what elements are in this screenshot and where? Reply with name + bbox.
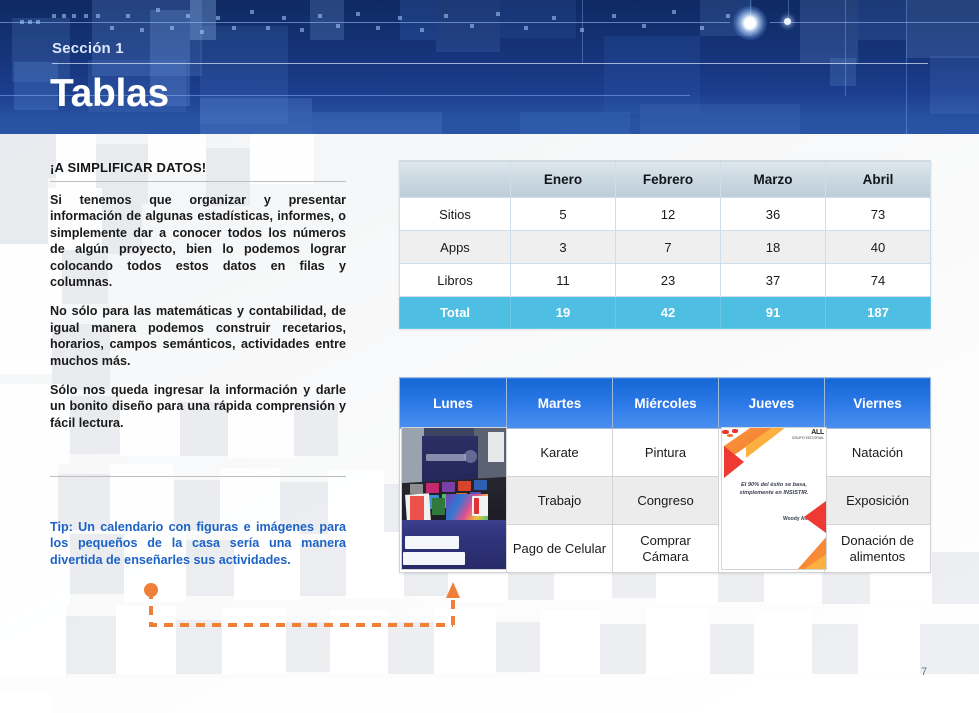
table-week-header-miercoles: Miércoles (613, 378, 719, 429)
table-row: Libros 11 23 37 74 (400, 264, 931, 297)
table-months-header-abril: Abril (826, 161, 931, 198)
cell-apps-marzo: 18 (721, 231, 826, 264)
table-months: Enero Febrero Marzo Abril Sitios 5 12 36… (399, 160, 931, 329)
body-paragraph-3: Sólo nos queda ingresar la información y… (50, 382, 346, 431)
cell-martes-2: Trabajo (507, 477, 613, 525)
cell-miercoles-3: Comprar Cámara (613, 525, 719, 573)
table-months-header-enero: Enero (511, 161, 616, 198)
quote-text: El 90% del éxito se basa, simplemente en… (728, 481, 820, 497)
cell-miercoles-1: Pintura (613, 429, 719, 477)
cell-libros-enero: 11 (511, 264, 616, 297)
cell-viernes-2: Exposición (825, 477, 931, 525)
table-total-row: Total 19 42 91 187 (400, 297, 931, 329)
row-label-apps: Apps (400, 231, 511, 264)
section-label: Sección 1 (52, 40, 124, 57)
page-title: Tablas (50, 72, 169, 116)
table-week-header-viernes: Viernes (825, 378, 931, 429)
cell-miercoles-2: Congreso (613, 477, 719, 525)
cell-total-febrero: 42 (616, 297, 721, 329)
row-label-libros: Libros (400, 264, 511, 297)
lead-heading: ¡A SIMPLIFICAR DATOS! (50, 160, 346, 175)
tip-callout-text: Tip: Un calendario con figuras e imágene… (50, 519, 346, 568)
table-months-header-marzo: Marzo (721, 161, 826, 198)
quote-logo-subtext: GRUPO EDITORIAL (792, 436, 824, 440)
header-small-dot-icon (784, 18, 791, 25)
table-row: Apps 3 7 18 40 (400, 231, 931, 264)
table-months-header-corner (400, 161, 511, 198)
cell-sitios-abril: 73 (826, 198, 931, 231)
cell-total-marzo: 91 (721, 297, 826, 329)
cell-martes-1: Karate (507, 429, 613, 477)
cell-apps-febrero: 7 (616, 231, 721, 264)
table-row: Sitios 5 12 36 73 (400, 198, 931, 231)
table-months-header-row: Enero Febrero Marzo Abril (400, 161, 931, 198)
cell-sitios-marzo: 36 (721, 198, 826, 231)
row-label-total: Total (400, 297, 511, 329)
jueves-quote-image: ALL GRUPO EDITORIAL El 90% del éxito se … (721, 427, 827, 570)
cell-total-abril: 187 (826, 297, 931, 329)
left-column-divider-rule (50, 476, 346, 477)
body-paragraph-2: No sólo para las matemáticas y contabili… (50, 303, 346, 369)
cell-libros-febrero: 23 (616, 264, 721, 297)
slide: Sección 1 Tablas (0, 0, 979, 713)
lead-heading-rule (50, 181, 346, 182)
bottom-left-corner-block (0, 694, 52, 713)
cell-total-enero: 19 (511, 297, 616, 329)
table-months-header-febrero: Febrero (616, 161, 721, 198)
table-week-header-jueves: Jueves (719, 378, 825, 429)
row-label-sitios: Sitios (400, 198, 511, 231)
cell-viernes-1: Natación (825, 429, 931, 477)
quote-logo-text: ALL (811, 429, 824, 436)
cell-martes-3: Pago de Celular (507, 525, 613, 573)
cell-libros-marzo: 37 (721, 264, 826, 297)
left-text-column: ¡A SIMPLIFICAR DATOS! Si tenemos que org… (50, 160, 346, 431)
page-number: 7 (921, 666, 927, 678)
slide-header-banner: Sección 1 Tablas (0, 0, 979, 134)
table-week-header-row: Lunes Martes Miércoles Jueves Viernes (400, 378, 931, 429)
section-divider-rule (52, 63, 928, 64)
cell-sitios-enero: 5 (511, 198, 616, 231)
cell-apps-abril: 40 (826, 231, 931, 264)
cell-viernes-3: Donación de alimentos (825, 525, 931, 573)
body-paragraph-1: Si tenemos que organizar y presentar inf… (50, 192, 346, 290)
cell-sitios-febrero: 12 (616, 198, 721, 231)
cell-libros-abril: 74 (826, 264, 931, 297)
lunes-booth-photo (401, 427, 507, 570)
table-week-header-martes: Martes (507, 378, 613, 429)
header-glow-dot-icon (733, 6, 767, 40)
table-week-header-lunes: Lunes (400, 378, 507, 429)
cell-apps-enero: 3 (511, 231, 616, 264)
